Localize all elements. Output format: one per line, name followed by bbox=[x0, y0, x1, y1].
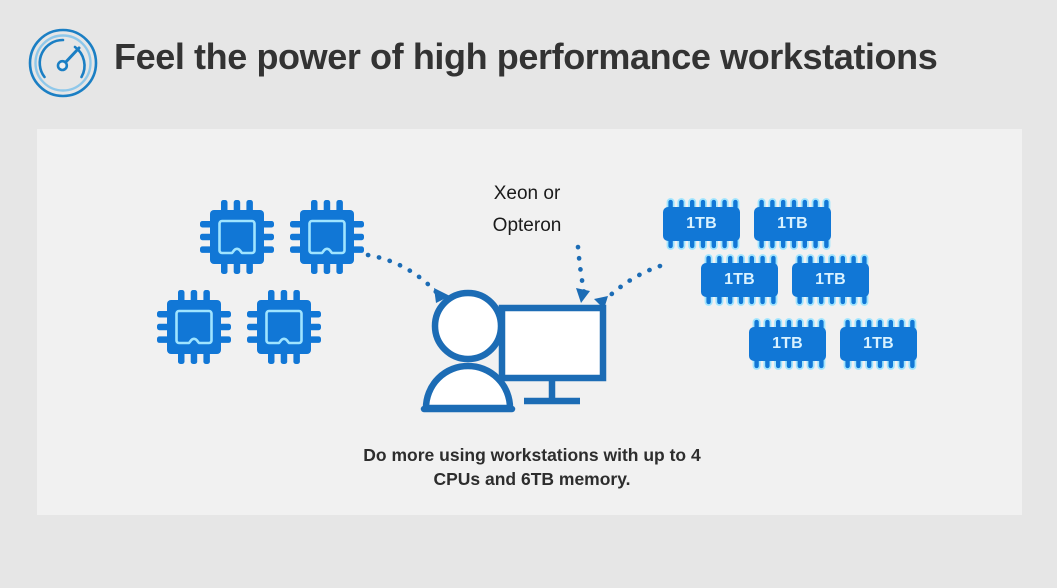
memory-module: 1TB bbox=[659, 198, 744, 250]
memory-module: 1TB bbox=[788, 254, 873, 306]
caption-line1: Do more using workstations with up to 4 bbox=[292, 443, 772, 467]
workstation-user-icon bbox=[418, 288, 608, 413]
caption-line2: CPUs and 6TB memory. bbox=[292, 467, 772, 491]
memory-module: 1TB bbox=[697, 254, 782, 306]
memory-module: 1TB bbox=[745, 318, 830, 370]
cpu-type-label-line2: Opteron bbox=[452, 210, 602, 242]
memory-module: 1TB bbox=[750, 198, 835, 250]
memory-module: 1TB bbox=[836, 318, 921, 370]
caption: Do more using workstations with up to 4 … bbox=[292, 443, 772, 491]
cpu-type-label: Xeon or Opteron bbox=[452, 178, 602, 242]
cpu-type-label-line1: Xeon or bbox=[452, 178, 602, 210]
